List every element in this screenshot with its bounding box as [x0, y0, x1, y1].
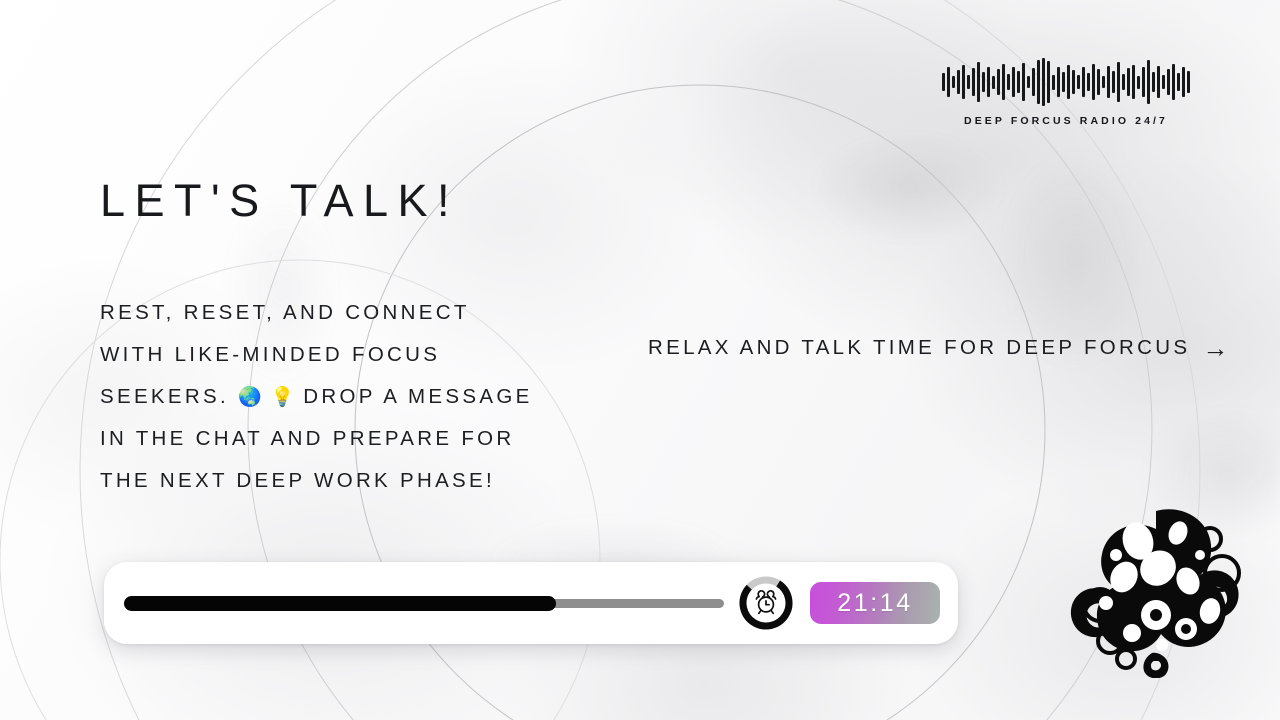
waveform-bar — [1147, 60, 1150, 104]
waveform-bar — [1082, 67, 1085, 97]
waveform-bar — [1142, 67, 1145, 97]
waveform-bar — [1067, 65, 1070, 99]
station-caption: DEEP FORCUS RADIO 24/7 — [964, 115, 1168, 127]
waveform-bar — [1122, 74, 1125, 90]
waveform-bar — [952, 76, 955, 88]
waveform-bar — [1037, 60, 1040, 104]
waveform-bar — [997, 69, 1000, 95]
body-line-text: SEEKERS. — [100, 385, 229, 408]
waveform-bar — [1152, 72, 1155, 92]
body-line: WITH LIKE-MINDED FOCUS — [100, 334, 620, 376]
progress-slider[interactable] — [124, 588, 724, 618]
abstract-bubble-ornament — [1060, 493, 1260, 678]
timer-ring[interactable] — [738, 575, 794, 631]
waveform-bar — [1042, 58, 1045, 106]
waveform-bar — [1182, 67, 1185, 97]
waveform-bar — [1012, 67, 1015, 97]
waveform-bar — [1017, 71, 1020, 93]
body-line-with-emoji: SEEKERS. 🌏 💡 DROP A MESSAGE — [100, 376, 620, 418]
waveform-bar — [972, 68, 975, 96]
waveform-bar — [1047, 61, 1050, 103]
waveform-bar — [1052, 75, 1055, 90]
waveform-bar — [957, 70, 960, 94]
waveform-bar — [992, 76, 995, 89]
waveform-bar — [1157, 66, 1160, 98]
tagline: RELAX AND TALK TIME FOR DEEP FORCUS → — [648, 335, 1228, 361]
waveform-bar — [1022, 63, 1025, 101]
station-logo: DEEP FORCUS RADIO 24/7 — [942, 58, 1190, 127]
waveform-bar — [947, 67, 950, 97]
waveform-bar — [1092, 64, 1095, 100]
waveform-bar — [1172, 64, 1175, 100]
waveform-bar — [1032, 68, 1035, 96]
progress-track[interactable] — [124, 599, 724, 608]
waveform-bar — [1002, 64, 1005, 100]
waveform-bar — [977, 62, 980, 102]
alarm-clock-icon — [752, 589, 780, 617]
waveform-bar — [1107, 66, 1110, 98]
waveform-bar — [1062, 72, 1065, 92]
waveform-bar — [1127, 68, 1130, 96]
progress-fill — [124, 596, 556, 611]
waveform-bar — [967, 75, 970, 89]
light-bulb-emoji: 💡 — [271, 386, 295, 408]
waveform-bar — [1102, 76, 1105, 88]
audio-waveform-icon — [942, 58, 1190, 106]
body-line-text-tail: DROP A MESSAGE — [303, 385, 532, 408]
waveform-bar — [1177, 73, 1180, 91]
body-line: REST, RESET, AND CONNECT — [100, 292, 620, 334]
waveform-bar — [1072, 70, 1075, 94]
page-title: LET'S TALK! — [100, 178, 459, 223]
waveform-bar — [1117, 62, 1120, 102]
globe-emoji: 🌏 — [238, 386, 262, 408]
audio-player-bar: 21:14 — [104, 562, 958, 644]
waveform-bar — [1027, 76, 1030, 88]
waveform-bar — [1007, 74, 1010, 90]
waveform-bar — [1077, 75, 1080, 89]
body-line: THE NEXT DEEP WORK PHASE! — [100, 460, 620, 502]
arrow-right-icon: → — [1202, 335, 1228, 361]
waveform-bar — [942, 73, 945, 91]
waveform-bar — [1187, 71, 1190, 93]
waveform-bar — [987, 67, 990, 97]
waveform-bar — [1167, 69, 1170, 95]
waveform-bar — [1162, 75, 1165, 89]
waveform-bar — [982, 72, 985, 92]
waveform-bar — [1137, 76, 1140, 89]
slide-canvas: DEEP FORCUS RADIO 24/7 LET'S TALK! REST,… — [0, 0, 1280, 720]
body-line: IN THE CHAT AND PREPARE FOR — [100, 418, 620, 460]
hero-body-copy: REST, RESET, AND CONNECT WITH LIKE-MINDE… — [100, 292, 620, 502]
waveform-bar — [1087, 73, 1090, 91]
tagline-text: RELAX AND TALK TIME FOR DEEP FORCUS — [648, 336, 1190, 360]
waveform-bar — [1057, 67, 1060, 97]
waveform-bar — [1097, 69, 1100, 95]
waveform-bar — [1132, 65, 1135, 99]
waveform-bar — [962, 65, 965, 99]
time-remaining-badge[interactable]: 21:14 — [810, 582, 940, 624]
waveform-bar — [1112, 71, 1115, 93]
